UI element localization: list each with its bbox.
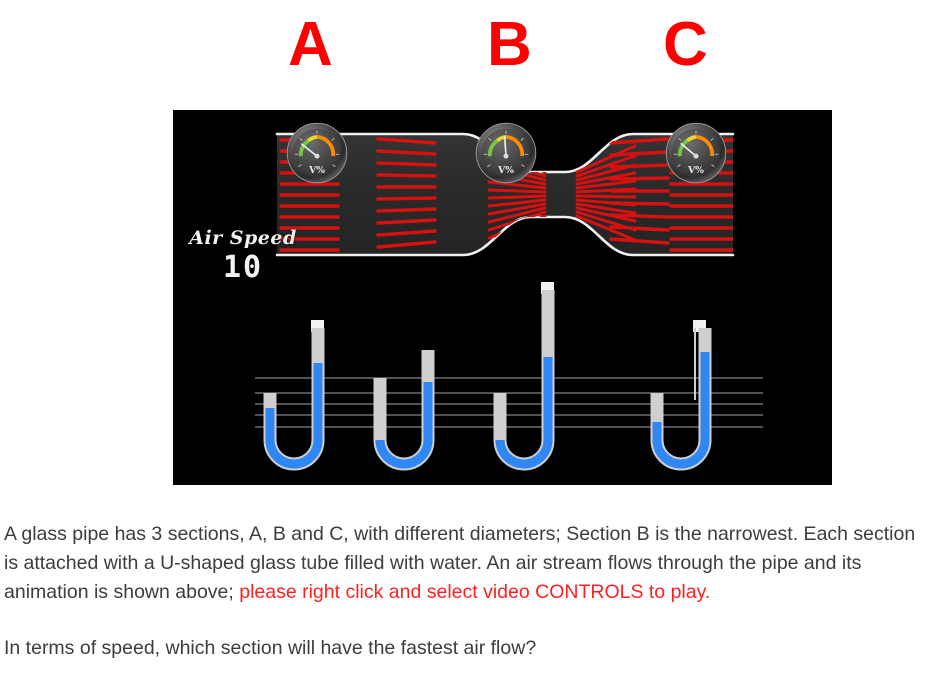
manometer-reference-lines — [255, 378, 763, 427]
standpipes — [311, 282, 706, 400]
manometer-c-glass — [657, 328, 705, 464]
question-prompt: In terms of speed, which section will ha… — [0, 634, 939, 663]
question-description-paragraph: A glass pipe has 3 sections, A, B and C,… — [0, 520, 939, 607]
air-speed-readout: Air Speed 10 — [183, 227, 303, 283]
air-speed-label: Air Speed — [183, 227, 303, 249]
video-controls-hint: please right click and select video CONT… — [239, 581, 710, 603]
gauge-a: V% — [286, 122, 348, 184]
manometer-a — [270, 328, 318, 464]
gauge-c: V% — [665, 122, 727, 184]
gauge-a-unit-label: V% — [308, 165, 325, 176]
section-label-c: C — [663, 14, 708, 76]
manometer-a-glass — [270, 328, 318, 464]
manometer-unlabeled — [380, 350, 428, 464]
manometer-c — [657, 328, 705, 464]
gauge-c-unit-label: V% — [687, 165, 704, 176]
manometer-b — [500, 290, 548, 464]
question-text-block: A glass pipe has 3 sections, A, B and C,… — [0, 520, 939, 663]
gauge-b-unit-label: V% — [497, 165, 514, 176]
section-label-a: A — [288, 14, 333, 76]
section-labels-row: A B C — [0, 0, 939, 100]
video-player[interactable]: Air Speed 10 V% — [173, 110, 832, 485]
section-label-b: B — [487, 14, 532, 76]
air-speed-value: 10 — [183, 253, 303, 283]
manometer-unlabeled-glass — [380, 350, 428, 464]
gauge-b: V% — [475, 122, 537, 184]
manometer-unlabeled-water — [380, 382, 428, 464]
manometer-b-glass — [500, 290, 548, 464]
